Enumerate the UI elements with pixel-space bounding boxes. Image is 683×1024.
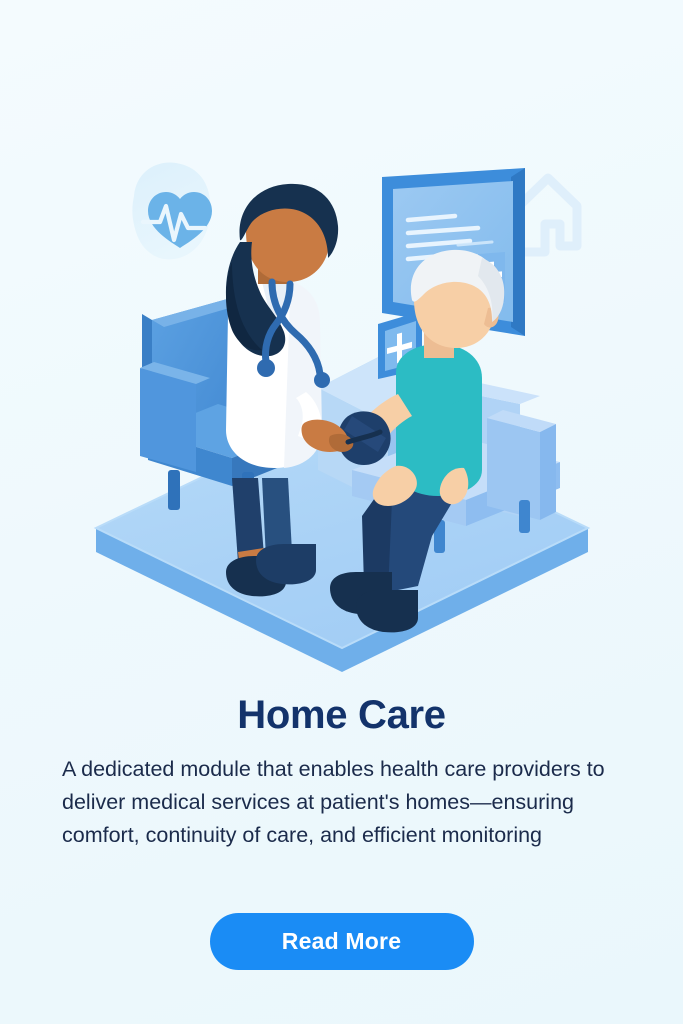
home-care-card: Home Care A dedicated module that enable… [0, 0, 683, 1024]
house-outline-icon [519, 178, 577, 252]
cta-row: Read More [0, 913, 683, 970]
home-care-isometric-illustration [0, 0, 683, 680]
read-more-button[interactable]: Read More [210, 913, 474, 970]
page-description: A dedicated module that enables health c… [62, 753, 624, 852]
page-title: Home Care [0, 692, 683, 738]
heart-pulse-icon [132, 163, 212, 260]
illustration-container [0, 0, 683, 680]
